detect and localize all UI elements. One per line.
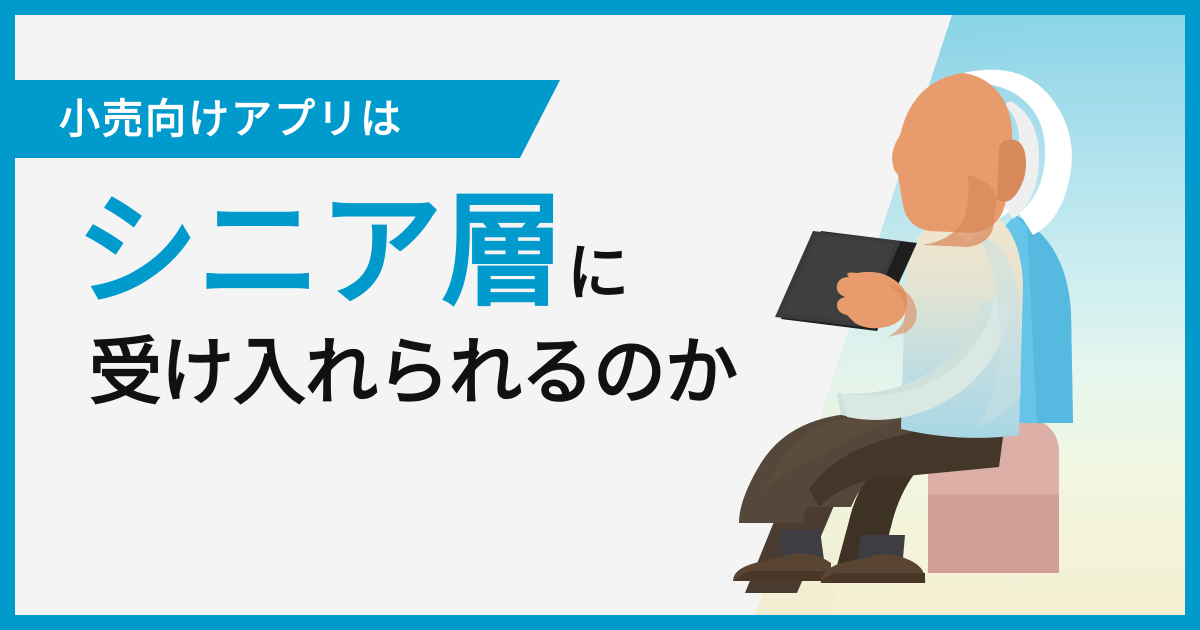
- headline-suffix-text: に: [567, 243, 629, 305]
- figure-head: [892, 70, 1072, 247]
- headline-block: シニア層 に 受け入れられるのか: [75, 190, 795, 409]
- headline-line-1: シニア層 に: [75, 190, 795, 314]
- poster-canvas: 小売向けアプリは シニア層 に 受け入れられるのか: [15, 15, 1185, 615]
- ribbon-banner: 小売向けアプリは: [15, 80, 560, 158]
- tablet-and-hand: [775, 231, 917, 337]
- poster-root: 小売向けアプリは シニア層 に 受け入れられるのか: [0, 0, 1200, 630]
- headline-accent-text: シニア層: [75, 190, 563, 314]
- ribbon-label: 小売向けアプリは: [59, 99, 403, 140]
- headline-line-2: 受け入れられるのか: [89, 336, 795, 409]
